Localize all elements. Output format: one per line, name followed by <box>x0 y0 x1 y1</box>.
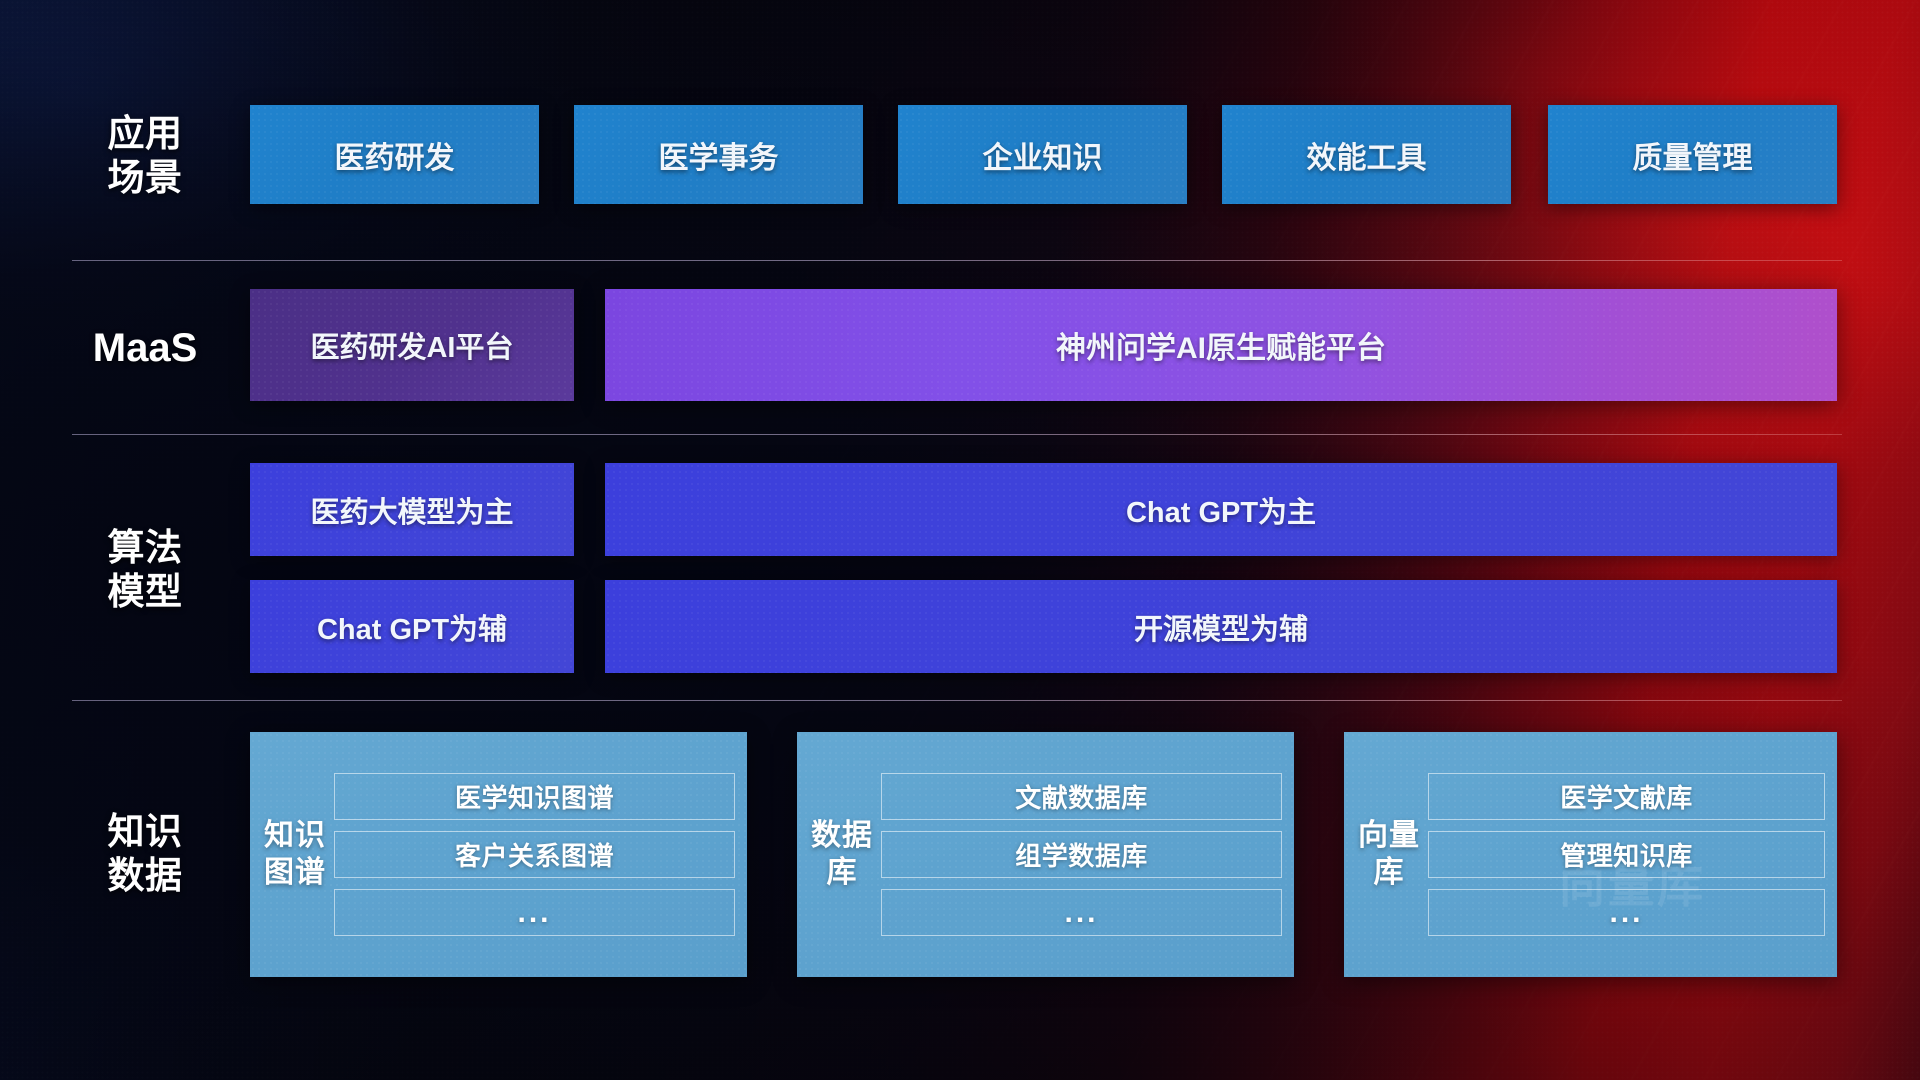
knowledge-item[interactable]: 组学数据库 <box>881 831 1282 878</box>
row-label-algorithm: 算法 模型 <box>60 526 230 613</box>
row-application-scenarios: 应用 场景 医药研发 医学事务 企业知识 效能工具 质量管理 <box>0 105 1920 204</box>
app-box-drug-rd[interactable]: 医药研发 <box>250 105 539 204</box>
algo-box-chatgpt-secondary[interactable]: Chat GPT为辅 <box>250 580 574 673</box>
knowledge-group-items: 医学知识图谱 客户关系图谱 ... <box>334 773 735 936</box>
maas-box-label: 医药研发AI平台 <box>310 324 513 366</box>
maas-box-label: 神州问学AI原生赋能平台 <box>1056 323 1386 367</box>
slide-canvas: 应用 场景 医药研发 医学事务 企业知识 效能工具 质量管理 <box>0 0 1920 1080</box>
algo-box-open-source-secondary[interactable]: 开源模型为辅 <box>605 580 1837 673</box>
knowledge-group-database: 数据库 文献数据库 组学数据库 ... <box>797 732 1294 977</box>
knowledge-item-more[interactable]: ... <box>881 889 1282 936</box>
divider-algorithm-knowledge <box>72 700 1842 701</box>
knowledge-item-more[interactable]: ... <box>334 889 735 936</box>
knowledge-item[interactable]: 客户关系图谱 <box>334 831 735 878</box>
row-label-application: 应用 场景 <box>60 112 230 199</box>
app-box-label: 质量管理 <box>1633 133 1753 177</box>
row-knowledge-data: 知识 数据 知识图谱 医学知识图谱 客户关系图谱 ... 数据库 文献数据库 组… <box>0 732 1920 977</box>
algo-box-label: Chat GPT为主 <box>1126 489 1316 531</box>
divider-maas-algorithm <box>72 434 1842 435</box>
row-algorithm-models: 算法 模型 医药大模型为主 Chat GPT为主 Chat GPT为辅 开源模型… <box>0 463 1920 673</box>
row-maas: MaaS 医药研发AI平台 神州问学AI原生赋能平台 <box>0 289 1920 401</box>
algo-box-label: 医药大模型为主 <box>310 489 513 531</box>
knowledge-group-graph: 知识图谱 医学知识图谱 客户关系图谱 ... <box>250 732 747 977</box>
app-box-label: 企业知识 <box>983 133 1103 177</box>
row-label-knowledge: 知识 数据 <box>60 810 230 897</box>
knowledge-group-items: 医学文献库 管理知识库 ... <box>1428 773 1825 936</box>
app-box-label: 医药研发 <box>335 133 455 177</box>
knowledge-item[interactable]: 管理知识库 <box>1428 831 1825 878</box>
algo-box-label: 开源模型为辅 <box>1134 606 1308 648</box>
algo-box-chatgpt-primary[interactable]: Chat GPT为主 <box>605 463 1837 556</box>
knowledge-group-vector: 向量库 向量库 医学文献库 管理知识库 ... <box>1344 732 1837 977</box>
knowledge-item[interactable]: 文献数据库 <box>881 773 1282 820</box>
knowledge-item-more[interactable]: ... <box>1428 889 1825 936</box>
knowledge-item[interactable]: 医学知识图谱 <box>334 773 735 820</box>
app-box-quality-management[interactable]: 质量管理 <box>1548 105 1837 204</box>
algo-box-label: Chat GPT为辅 <box>317 606 507 648</box>
divider-application-maas <box>72 260 1842 261</box>
architecture-diagram: 应用 场景 医药研发 医学事务 企业知识 效能工具 质量管理 <box>0 0 1920 1080</box>
knowledge-group-title: 知识图谱 <box>264 818 326 891</box>
app-box-label: 效能工具 <box>1307 133 1427 177</box>
knowledge-group-title: 数据库 <box>811 818 873 891</box>
app-box-enterprise-knowledge[interactable]: 企业知识 <box>898 105 1187 204</box>
knowledge-item[interactable]: 医学文献库 <box>1428 773 1825 820</box>
app-box-label: 医学事务 <box>659 133 779 177</box>
knowledge-group-title: 向量库 <box>1358 818 1420 891</box>
maas-box-shenzhou-wenxue-platform[interactable]: 神州问学AI原生赋能平台 <box>605 289 1837 401</box>
app-box-medical-affairs[interactable]: 医学事务 <box>574 105 863 204</box>
row-label-maas: MaaS <box>60 325 230 372</box>
knowledge-group-items: 文献数据库 组学数据库 ... <box>881 773 1282 936</box>
app-box-efficiency-tools[interactable]: 效能工具 <box>1222 105 1511 204</box>
maas-box-drug-rd-ai-platform[interactable]: 医药研发AI平台 <box>250 289 574 401</box>
algo-box-pharma-llm-primary[interactable]: 医药大模型为主 <box>250 463 574 556</box>
